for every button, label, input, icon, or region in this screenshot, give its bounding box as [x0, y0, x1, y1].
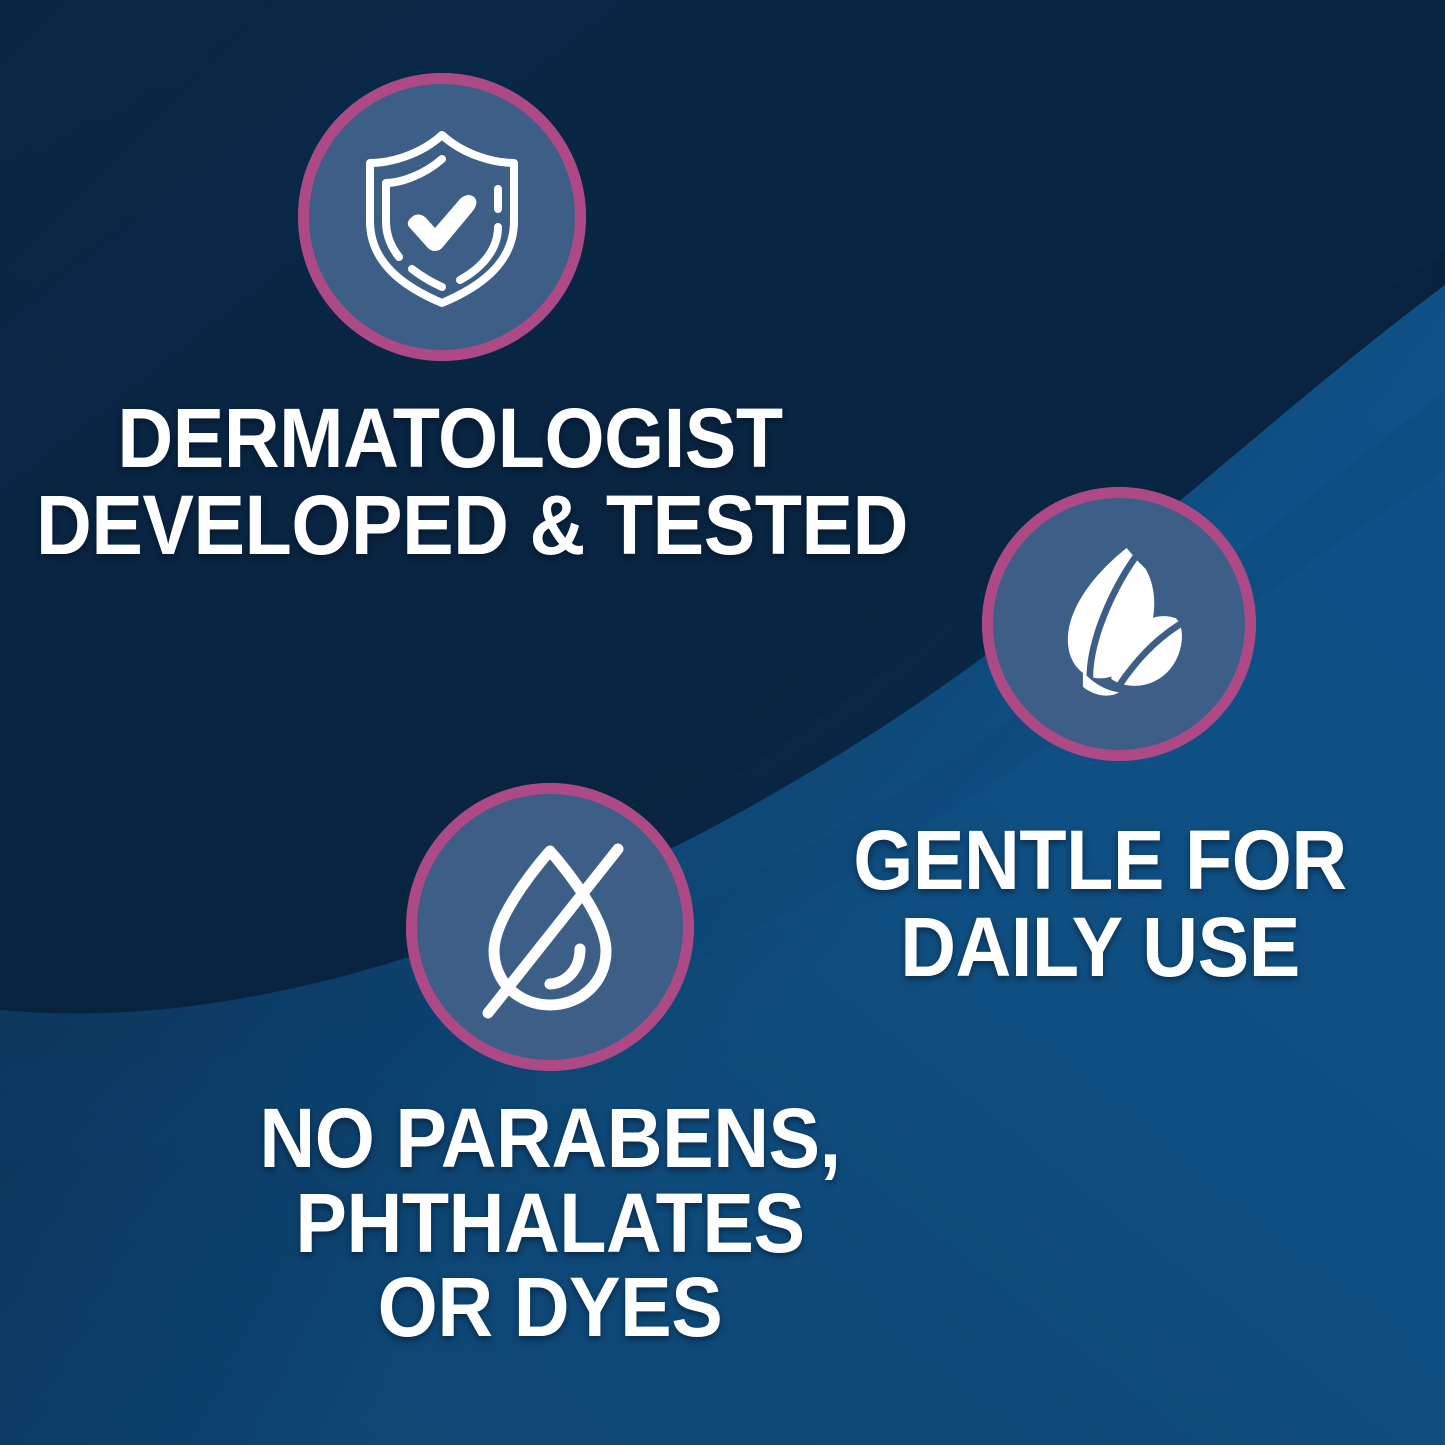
- badge-no-parabens: [406, 783, 694, 1071]
- feature-label-gentle: GENTLE FOR DAILY USE: [787, 820, 1413, 987]
- product-feature-infographic: DERMATOLOGIST DEVELOPED & TESTED GENTLE …: [0, 0, 1445, 1445]
- feature-label-no-parabens: NO PARABENS, PHTHALATES OR DYES: [145, 1098, 955, 1348]
- headline-line: OR DYES: [145, 1267, 955, 1348]
- check-mark-icon: [408, 195, 477, 251]
- badge-dermatologist: [298, 73, 586, 361]
- feature-label-dermatologist: DERMATOLOGIST DEVELOPED & TESTED: [36, 398, 864, 565]
- no-droplet-icon: [450, 827, 650, 1027]
- headline-line: DERMATOLOGIST: [36, 398, 864, 479]
- headline-line: DAILY USE: [787, 907, 1413, 988]
- headline-line: GENTLE FOR: [787, 820, 1413, 901]
- headline-line: PHTHALATES: [145, 1183, 955, 1264]
- headline-line: DEVELOPED & TESTED: [36, 485, 864, 566]
- headline-line: NO PARABENS,: [145, 1098, 955, 1179]
- feather-icon: [1024, 529, 1214, 719]
- badge-gentle: [982, 487, 1256, 761]
- shield-check-icon: [342, 117, 542, 317]
